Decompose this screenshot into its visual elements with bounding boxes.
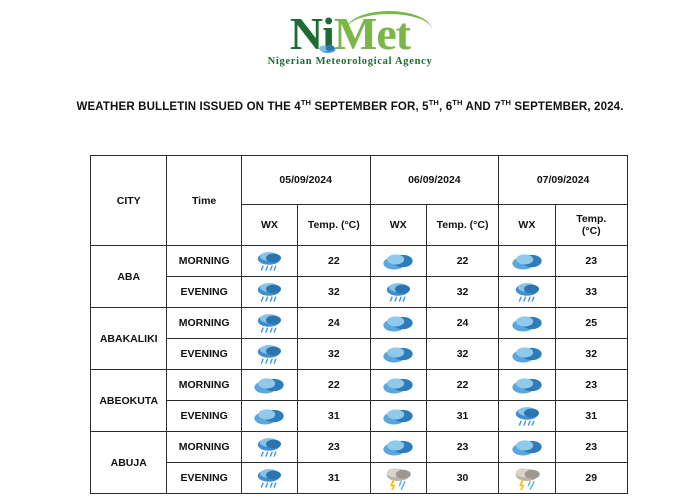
column-header-city: CITY (91, 156, 167, 246)
rain-cloud-icon (499, 277, 555, 308)
temperature-cell: 22 (426, 246, 498, 277)
column-header-temp-2: Temp. (°C) (426, 205, 498, 246)
temperature-cell: 25 (555, 308, 627, 339)
logo-wordmark: NiMet (290, 10, 410, 58)
cloud-icon (241, 401, 297, 432)
column-header-wx-2: WX (370, 205, 426, 246)
time-period-cell: EVENING (167, 401, 241, 432)
cloud-icon (241, 370, 297, 401)
table-header: CITY Time 05/09/2024 06/09/2024 07/09/20… (91, 156, 628, 246)
column-header-date-1: 05/09/2024 (241, 156, 370, 205)
column-header-temp-3: Temp. (°C) (555, 205, 627, 246)
rain-cloud-icon (241, 463, 297, 494)
temperature-cell: 29 (555, 463, 627, 494)
column-header-time: Time (167, 156, 241, 246)
cloud-icon (499, 308, 555, 339)
column-header-temp-1: Temp. (°C) (298, 205, 370, 246)
nimet-logo: NiMet Nigerian Meteorological Agency (0, 0, 700, 67)
temperature-cell: 33 (555, 277, 627, 308)
thunderstorm-icon (370, 463, 426, 494)
city-name-cell: ABA (91, 246, 167, 308)
temperature-cell: 31 (426, 401, 498, 432)
column-header-wx-3: WX (499, 205, 555, 246)
temperature-cell: 22 (298, 246, 370, 277)
temperature-cell: 32 (298, 339, 370, 370)
temperature-cell: 22 (426, 370, 498, 401)
temperature-cell: 23 (555, 432, 627, 463)
page-title: WEATHER BULLETIN ISSUED ON THE 4TH SEPTE… (0, 101, 700, 113)
time-period-cell: MORNING (167, 370, 241, 401)
title-sup-2: TH (429, 98, 439, 107)
temperature-cell: 32 (555, 339, 627, 370)
cloud-icon (370, 401, 426, 432)
table-row: ABEOKUTAMORNING222223 (91, 370, 628, 401)
title-part-3: , 6 (439, 101, 452, 113)
weather-forecast-table: CITY Time 05/09/2024 06/09/2024 07/09/20… (90, 155, 628, 494)
time-period-cell: MORNING (167, 432, 241, 463)
table-header-row-dates: CITY Time 05/09/2024 06/09/2024 07/09/20… (91, 156, 628, 205)
temperature-cell: 22 (298, 370, 370, 401)
title-sup-4: TH (501, 98, 511, 107)
temperature-cell: 23 (555, 370, 627, 401)
temperature-cell: 32 (298, 277, 370, 308)
column-header-date-3: 07/09/2024 (499, 156, 628, 205)
title-part-5: SEPTEMBER, 2024. (511, 101, 623, 113)
temperature-cell: 32 (426, 339, 498, 370)
title-part-4: AND 7 (463, 101, 501, 113)
temperature-cell: 23 (426, 432, 498, 463)
cloud-icon (370, 339, 426, 370)
time-period-cell: EVENING (167, 277, 241, 308)
temperature-cell: 30 (426, 463, 498, 494)
cloud-icon (370, 308, 426, 339)
rain-cloud-icon (370, 277, 426, 308)
cloud-icon (370, 432, 426, 463)
table-body: ABAMORNING222223EVENING323233ABAKALIKIMO… (91, 246, 628, 494)
rain-cloud-icon (241, 246, 297, 277)
cloud-icon (370, 370, 426, 401)
title-part-2: SEPTEMBER FOR, 5 (311, 101, 429, 113)
cloud-icon (499, 246, 555, 277)
temperature-cell: 32 (426, 277, 498, 308)
time-period-cell: EVENING (167, 339, 241, 370)
city-name-cell: ABUJA (91, 432, 167, 494)
time-period-cell: MORNING (167, 308, 241, 339)
temperature-cell: 31 (298, 463, 370, 494)
rain-cloud-icon (241, 432, 297, 463)
column-header-temp-3-line1: Temp. (576, 213, 606, 225)
table-row: EVENING313029 (91, 463, 628, 494)
temperature-cell: 23 (555, 246, 627, 277)
title-part-1: WEATHER BULLETIN ISSUED ON THE 4 (76, 101, 300, 113)
rain-cloud-icon (241, 339, 297, 370)
city-name-cell: ABAKALIKI (91, 308, 167, 370)
cloud-icon (499, 432, 555, 463)
cloud-icon (499, 370, 555, 401)
table-row: ABAKALIKIMORNING242425 (91, 308, 628, 339)
city-name-cell: ABEOKUTA (91, 370, 167, 432)
column-header-temp-3-line2: (°C) (582, 225, 601, 237)
temperature-cell: 23 (298, 432, 370, 463)
temperature-cell: 31 (298, 401, 370, 432)
column-header-wx-1: WX (241, 205, 297, 246)
table-row: ABAMORNING222223 (91, 246, 628, 277)
temperature-cell: 24 (298, 308, 370, 339)
table-row: EVENING323232 (91, 339, 628, 370)
time-period-cell: EVENING (167, 463, 241, 494)
thunderstorm-icon (499, 463, 555, 494)
temperature-cell: 31 (555, 401, 627, 432)
table-row: EVENING323233 (91, 277, 628, 308)
rain-cloud-icon (241, 308, 297, 339)
cloud-icon (370, 246, 426, 277)
table-row: ABUJAMORNING232323 (91, 432, 628, 463)
title-sup-1: TH (301, 98, 311, 107)
title-sup-3: TH (452, 98, 462, 107)
rain-cloud-icon (499, 401, 555, 432)
table-row: EVENING313131 (91, 401, 628, 432)
rain-cloud-icon (241, 277, 297, 308)
temperature-cell: 24 (426, 308, 498, 339)
time-period-cell: MORNING (167, 246, 241, 277)
cloud-icon (317, 16, 337, 28)
cloud-icon (499, 339, 555, 370)
weather-table-container: CITY Time 05/09/2024 06/09/2024 07/09/20… (90, 155, 628, 494)
column-header-date-2: 06/09/2024 (370, 156, 499, 205)
